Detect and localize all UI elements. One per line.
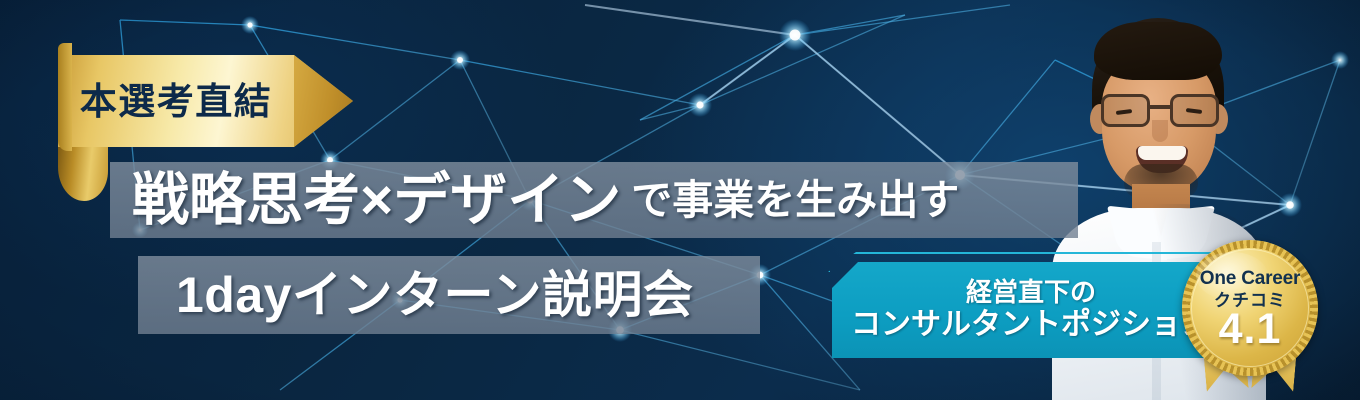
photo-fringe <box>1094 22 1222 80</box>
headline-main: 戦略思考×デザイン <box>132 172 621 229</box>
headline-band-primary: 戦略思考×デザイン で事業を生み出す <box>110 162 1078 238</box>
photo-nose <box>1152 120 1168 142</box>
headline-event-title: 1dayインターン説明会 <box>176 270 693 320</box>
ribbon-arrow-tip <box>288 55 354 147</box>
headline-subtext: で事業を生み出す <box>631 180 959 221</box>
gold-ribbon-badge: 本選考直結 <box>58 55 353 147</box>
medal-brand-name: One Career <box>1200 269 1300 290</box>
medal-content: One Career クチコミ 4.1 <box>1182 240 1318 376</box>
cyan-badge-line2: コンサルタントポジション <box>851 309 1211 341</box>
review-score-medal: One Career クチコミ 4.1 <box>1176 240 1324 390</box>
photo-teeth <box>1138 146 1186 160</box>
glasses-bridge <box>1150 105 1170 109</box>
glasses-lens-right <box>1170 94 1219 127</box>
medal-score-value: 4.1 <box>1219 308 1282 351</box>
ribbon-label: 本選考直結 <box>58 55 294 147</box>
cyan-position-badge: 経営直下の コンサルタントポジション <box>832 262 1230 358</box>
cyan-badge-line1: 経営直下の <box>966 279 1096 306</box>
glasses-lens-left <box>1101 94 1150 127</box>
promotional-banner: 本選考直結 戦略思考×デザイン で事業を生み出す 1dayインターン説明会 経営… <box>0 0 1360 400</box>
headline-band-secondary: 1dayインターン説明会 <box>138 256 760 334</box>
